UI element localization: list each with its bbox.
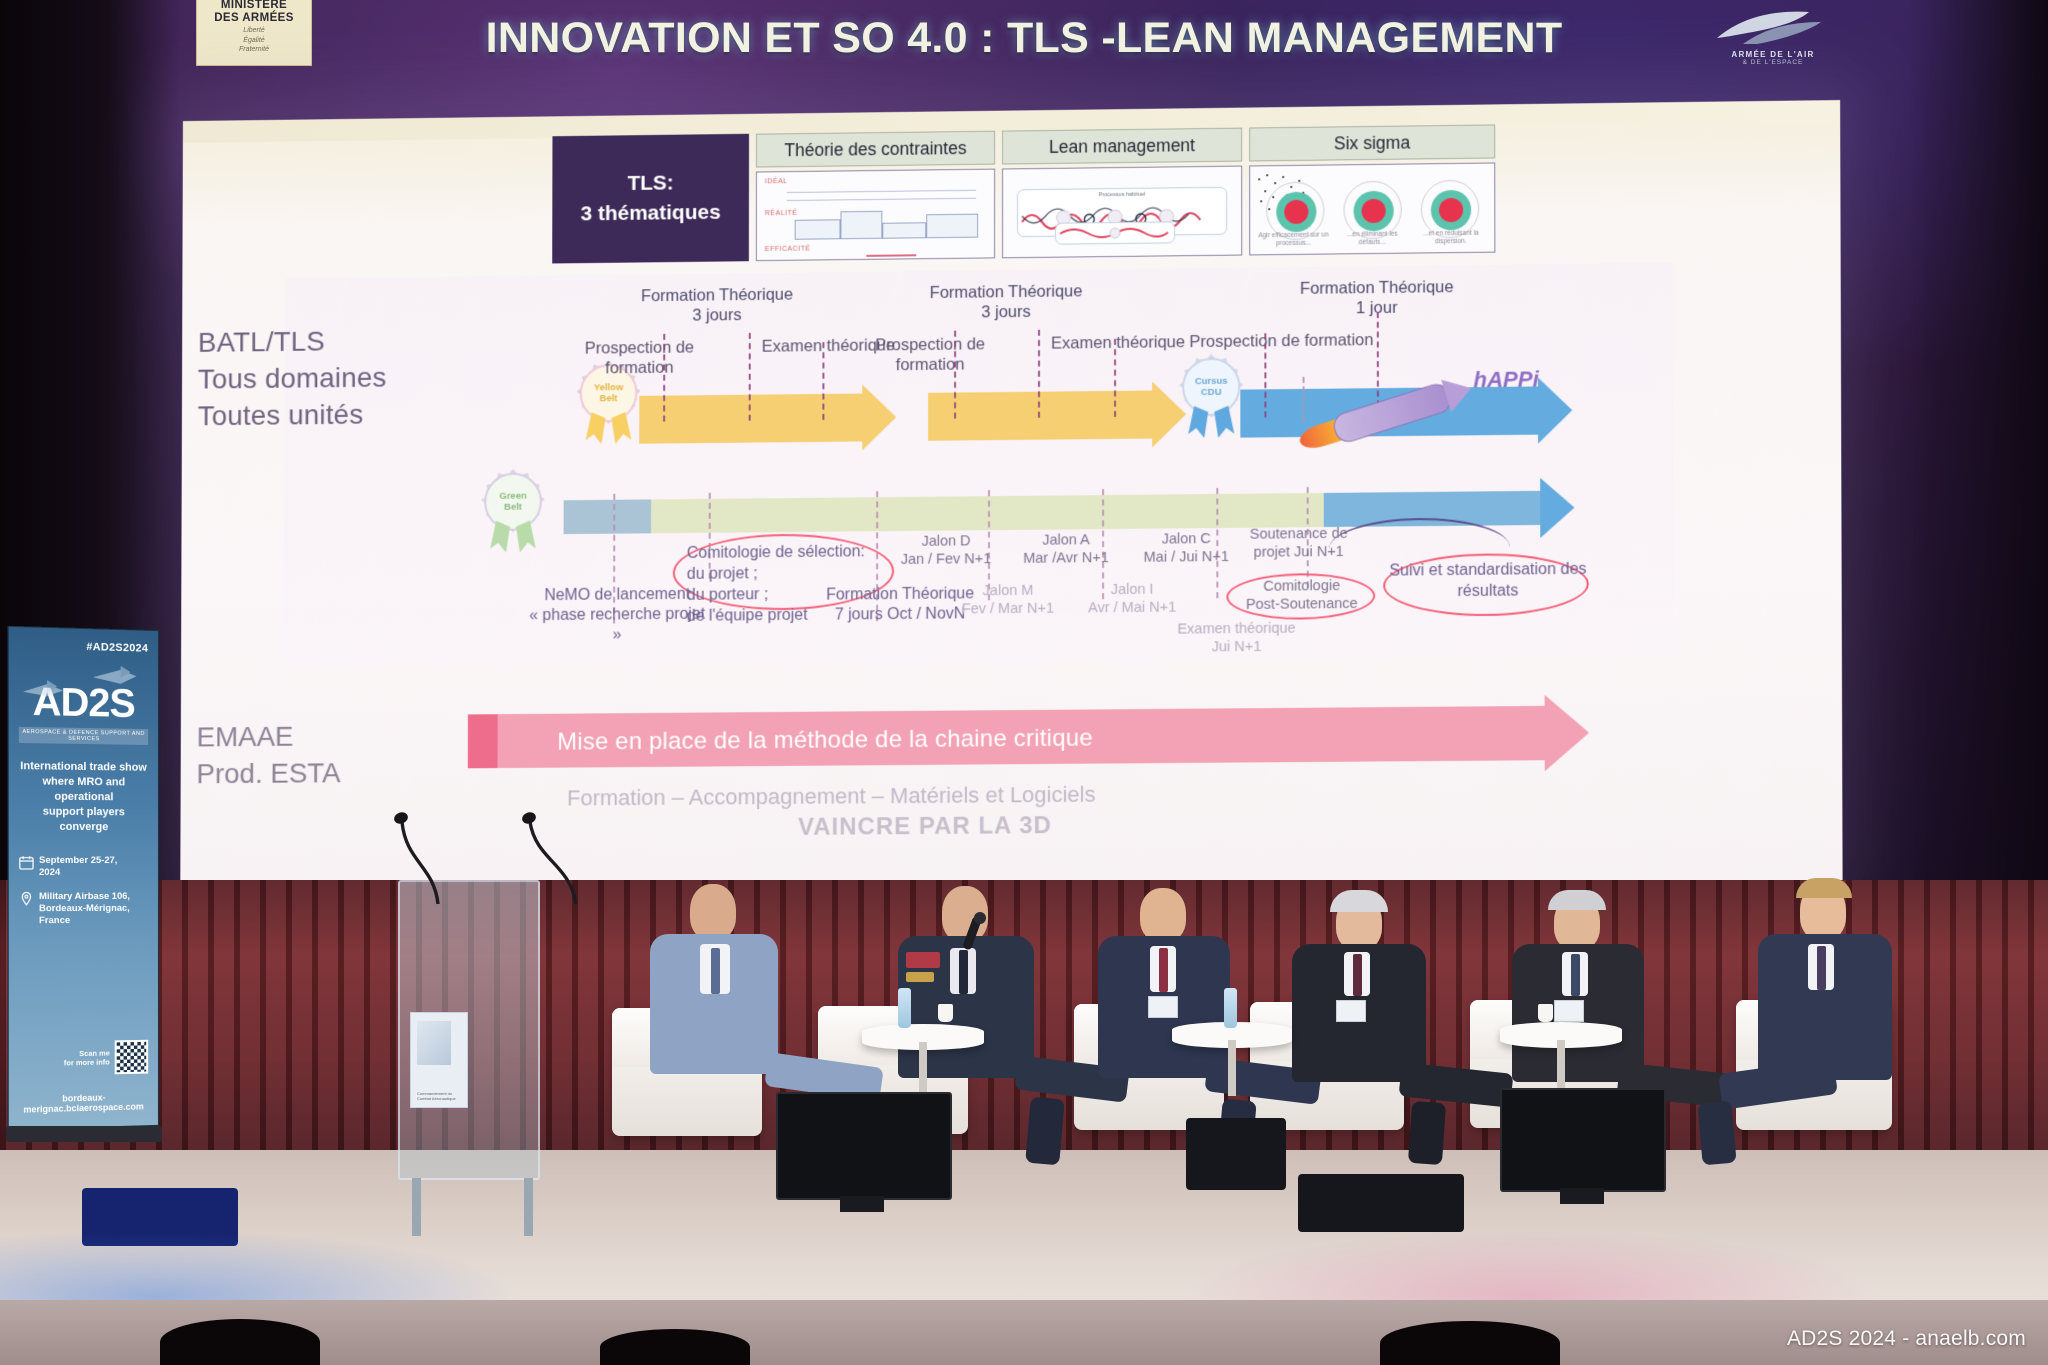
photo-watermark: AD2S 2024 - anaelb.com <box>1787 1327 2026 1351</box>
timeline-arrow-phase-1 <box>928 390 1186 441</box>
happi-label: hAPPi <box>1473 366 1538 393</box>
divider-2a <box>1264 333 1266 417</box>
annotation-nemo: NeMO de lancement « phase recherche proj… <box>528 585 707 646</box>
calendar-icon <box>19 855 34 870</box>
audience-head-2 <box>600 1329 750 1365</box>
monitor-stand-2 <box>1560 1188 1604 1204</box>
toc-line-b <box>787 198 976 201</box>
grey-hair-5 <box>1548 890 1606 910</box>
annotation-comitologie-post: ComitologiePost-Soutenance <box>1228 577 1375 614</box>
six-sigma-captions: Agir efficacement sur un processus... ..… <box>1254 230 1490 249</box>
badge-lanyard-4 <box>1336 1000 1366 1022</box>
page-title: INNOVATION ET SO 4.0 : TLS -LEAN MANAGEM… <box>0 14 2048 63</box>
water-bottle-1 <box>898 988 911 1028</box>
divider-1b <box>1038 330 1040 418</box>
method-body-1: Processus habituel <box>1002 166 1242 259</box>
divider-1c <box>1114 339 1116 417</box>
phase-1-exam: Examen théorique <box>1048 332 1188 354</box>
tls-line1: TLS: <box>627 169 673 199</box>
ad2s-rollup-banner: #AD2S2024 AD2S AEROSPACE & DEFENCE SUPPO… <box>8 626 159 1130</box>
method-body-2: Agir efficacement sur un processus... ..… <box>1249 162 1495 255</box>
batl-row-label: BATL/TLS Tous domaines Toutes unités <box>198 322 387 434</box>
divider-0a <box>663 334 665 422</box>
microphone-right-icon <box>498 800 638 910</box>
microphone-left-icon <box>372 800 512 910</box>
toc-red-2 <box>866 254 916 257</box>
military-insignia <box>906 952 940 968</box>
stage-speaker-1 <box>1186 1118 1286 1190</box>
annotation-examen-theorique: Examen théoriqueJui N+1 <box>1156 619 1317 656</box>
slide-footer-text: VAINCRE PAR LA 3D <box>798 812 1052 842</box>
toc-label-efficacite: EFFICACITÉ <box>765 246 811 254</box>
emaae-sub-text: Formation – Accompagnement – Matériels e… <box>567 782 1096 812</box>
banner-date-block: September 25-27,2024 <box>19 855 148 879</box>
six-caption-1: Agir efficacement sur un processus... <box>1258 232 1328 249</box>
divider-0b <box>749 333 751 421</box>
lectern-card: Commandement du Combat Aéronautique <box>410 1012 468 1108</box>
method-title-1: Lean management <box>1002 128 1242 165</box>
toc-label-ideal: IDÉAL <box>765 178 788 185</box>
method-body-0: IDÉAL RÉALITÉ EFFICACITÉ <box>756 169 995 262</box>
audience-head-1 <box>160 1319 320 1365</box>
six-caption-3: ...et en réduisant la dispersion. <box>1416 230 1486 247</box>
side-table-1 <box>862 1024 984 1050</box>
banner-hashtag: #AD2S2024 <box>19 639 148 654</box>
emaae-arrow-text: Mise en place de la méthode de la chaine… <box>557 725 1093 757</box>
handheld-microphone-icon <box>952 912 1012 972</box>
batl-label-line3: Toutes unités <box>198 396 387 435</box>
batl-label-line1: BATL/TLS <box>198 322 387 361</box>
phase-1-prospection: Prospection de formation <box>840 334 1020 376</box>
floor-monitor-2 <box>1500 1088 1666 1192</box>
cup-1 <box>938 1004 953 1022</box>
toc-step-3 <box>882 222 926 238</box>
banner-base <box>6 1126 162 1142</box>
ribbon-icon-yellow <box>586 412 632 446</box>
conference-stage-scene: MINISTÈRE DES ARMÉES Liberté Égalité Fra… <box>0 0 2048 1365</box>
water-bottle-2 <box>1224 988 1237 1028</box>
timeline-arrow-phase-0 <box>639 393 896 444</box>
divider-1a <box>954 331 956 419</box>
divider-0c <box>822 342 824 420</box>
toc-red-3 <box>924 260 978 262</box>
projected-slide: TLS: 3 thématiques Théorie des contraint… <box>180 100 1842 896</box>
phase-2-prospection: Prospection de formation <box>1186 330 1377 352</box>
toc-label-realite: RÉALITÉ <box>765 210 798 217</box>
method-card-six-sigma: Six sigma Agir effic <box>1249 124 1495 255</box>
six-caption-2: ...en éliminant les défauts... <box>1337 231 1407 248</box>
badge-lanyard-3 <box>1148 996 1178 1018</box>
emaae-label-line2: Prod. ESTA <box>196 754 340 792</box>
tls-line2: 3 thématiques <box>580 198 720 230</box>
phase-0-prospection: Prospection de formation <box>550 337 729 379</box>
badge-green-belt: GreenBelt <box>478 473 548 557</box>
military-ribbon <box>906 972 934 982</box>
qr-code-icon <box>115 1040 148 1075</box>
methods-header-row: TLS: 3 thématiques Théorie des contraint… <box>552 124 1495 263</box>
method-card-theorie-des-contraintes: Théorie des contraintes IDÉAL RÉALITÉ EF… <box>756 131 995 261</box>
lectern-leg-left <box>412 1178 421 1236</box>
lean-optimized-frame <box>1055 221 1175 244</box>
annotation-suivi: Suivi et standardisation desrésultats <box>1389 559 1587 603</box>
method-card-lean-management: Lean management Processus habituel <box>1002 128 1242 259</box>
jets-illustration-icon <box>17 661 148 734</box>
toc-step-1 <box>795 219 841 239</box>
toc-step-2 <box>840 211 882 239</box>
cup-2 <box>1538 1004 1553 1022</box>
jalon-bottom-0: Jalon MFev / Mar N+1 <box>938 581 1078 618</box>
phase-0-training: Formation Théorique3 jours <box>578 284 856 327</box>
ribbon-icon-green <box>490 520 536 554</box>
toc-red-1 <box>793 259 853 261</box>
banner-scan-block: Scan mefor more info <box>64 1040 148 1076</box>
lectern-leg-right <box>524 1178 533 1236</box>
phase-1-training: Formation Théorique3 jours <box>866 281 1146 324</box>
monitor-stand-1 <box>840 1196 884 1212</box>
annotation-soutenance: Soutenance deprojet Jui N+1 <box>1222 525 1375 563</box>
lean-caption: Processus habituel <box>1018 191 1226 199</box>
tls-title-box: TLS: 3 thématiques <box>552 134 749 264</box>
toc-line-a <box>787 190 976 193</box>
ribbon-icon-cursus <box>1188 406 1234 441</box>
lean-straight-icon <box>1056 222 1174 243</box>
blond-hair-6 <box>1796 878 1852 898</box>
jalon-bottom-1: Jalon IAvr / Mai N+1 <box>1062 580 1202 617</box>
batl-label-line2: Tous domaines <box>198 359 387 398</box>
banner-scan-text: Scan mefor more info <box>64 1048 110 1067</box>
emaae-label-line1: EMAAE <box>197 717 341 755</box>
lectern: Commandement du Combat Aéronautique <box>398 880 540 1180</box>
right-wall-shadow <box>1908 0 2048 880</box>
toc-step-4 <box>926 214 978 239</box>
method-title-0: Théorie des contraintes <box>756 131 995 168</box>
method-title-2: Six sigma <box>1249 124 1495 161</box>
location-pin-icon <box>19 891 34 906</box>
badge-lanyard-5 <box>1554 1000 1584 1022</box>
banner-url: bordeaux-merignac.bciaerospace.com <box>9 1091 158 1115</box>
audience-head-3 <box>1380 1321 1560 1365</box>
emaae-row-label: EMAAE Prod. ESTA <box>196 717 340 792</box>
ministry-logo-line1: MINISTÈRE <box>221 0 287 12</box>
badge-cursus-cdu: CursusCDU <box>1176 358 1246 443</box>
floor-monitor-1 <box>776 1092 952 1200</box>
side-table-3 <box>1500 1022 1622 1048</box>
banner-tagline: International trade show where MRO and o… <box>19 759 148 835</box>
stage-speaker-2 <box>1298 1174 1464 1232</box>
banner-place-block: Military Airbase 106,Bordeaux-Mérignac,F… <box>19 891 148 927</box>
